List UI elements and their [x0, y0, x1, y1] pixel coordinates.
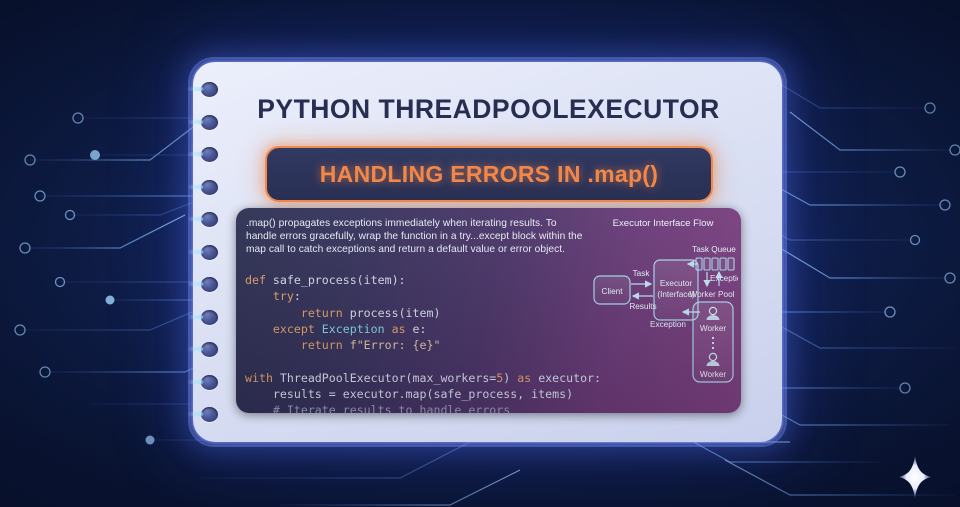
- binder-holes: [198, 72, 224, 432]
- sparkle-icon: [898, 455, 932, 499]
- code-line: results = executor.map(safe_process, ite…: [245, 386, 595, 402]
- code-token: as: [517, 371, 538, 385]
- code-token: safe_process(item):: [273, 273, 406, 287]
- svg-text:Exception: Exception: [650, 320, 686, 329]
- svg-text:Task: Task: [633, 269, 651, 278]
- code-token: try: [273, 289, 294, 303]
- code-token: [245, 322, 273, 336]
- content-panel: .map() propagates exceptions immediately…: [236, 208, 741, 413]
- diagram-heading: Executor Interface Flow: [613, 218, 714, 229]
- svg-text:Worker: Worker: [700, 324, 727, 333]
- code-token: e:: [406, 322, 427, 336]
- content-card: PYTHON THREADPOOLEXECUTOR HANDLING ERROR…: [193, 62, 782, 442]
- code-token: process(item): [350, 306, 441, 320]
- code-line: def safe_process(item):: [245, 272, 595, 288]
- svg-text:Results: Results: [629, 302, 656, 311]
- subtitle-text: HANDLING ERRORS IN .map(): [320, 161, 658, 188]
- binder-hole: [201, 82, 218, 97]
- binder-hole: [201, 407, 218, 422]
- svg-text:Worker: Worker: [700, 370, 727, 379]
- code-token: [245, 306, 301, 320]
- code-token: return: [301, 338, 350, 352]
- executor-flow-diagram: Executor Interface Flow Client Executor …: [588, 214, 738, 409]
- code-line: try:: [245, 288, 595, 304]
- subtitle-banner: HANDLING ERRORS IN .map(): [265, 146, 713, 202]
- code-token: # Iterate results to handle errors: [245, 403, 510, 413]
- binder-hole: [201, 310, 218, 325]
- svg-text:Executor: Executor: [660, 279, 693, 288]
- binder-hole: [201, 147, 218, 162]
- binder-hole: [201, 212, 218, 227]
- code-line: return process(item): [245, 305, 595, 321]
- binder-hole: [201, 180, 218, 195]
- description-line: map call to catch exceptions and return …: [246, 243, 576, 256]
- description-line: handle errors gracefully, wrap the funct…: [246, 230, 576, 243]
- code-line: # Iterate results to handle errors: [245, 402, 595, 413]
- code-token: def: [245, 273, 273, 287]
- code-token: as: [385, 322, 406, 336]
- binder-hole: [201, 115, 218, 130]
- binder-hole: [201, 375, 218, 390]
- code-line: return f"Error: {e}": [245, 337, 595, 353]
- svg-text:Task Queue: Task Queue: [692, 245, 736, 254]
- code-token: :: [294, 289, 301, 303]
- binder-hole: [201, 245, 218, 260]
- code-token: ThreadPoolExecutor(max_workers=: [280, 371, 496, 385]
- code-token: f"Error: {e}": [350, 338, 441, 352]
- svg-text:Exception: Exception: [710, 274, 738, 283]
- code-token: [245, 289, 273, 303]
- code-token: results = executor.map(safe_process, ite…: [245, 387, 573, 401]
- code-line: except Exception as e:: [245, 321, 595, 337]
- description-text: .map() propagates exceptions immediately…: [246, 217, 576, 256]
- page-title: PYTHON THREADPOOLEXECUTOR: [236, 94, 741, 125]
- svg-text:Worker Pool: Worker Pool: [690, 290, 735, 299]
- code-token: ): [503, 371, 517, 385]
- code-line: with ThreadPoolExecutor(max_workers=5) a…: [245, 370, 595, 386]
- code-token: Exception: [322, 322, 385, 336]
- code-token: [245, 338, 301, 352]
- binder-hole: [201, 277, 218, 292]
- description-line: .map() propagates exceptions immediately…: [246, 217, 576, 230]
- code-token: return: [301, 306, 350, 320]
- code-block: def safe_process(item): try: return proc…: [245, 272, 595, 413]
- code-token: except: [273, 322, 322, 336]
- binder-hole: [201, 342, 218, 357]
- svg-text:Client: Client: [602, 287, 624, 296]
- code-line: [245, 353, 595, 369]
- code-token: with: [245, 371, 280, 385]
